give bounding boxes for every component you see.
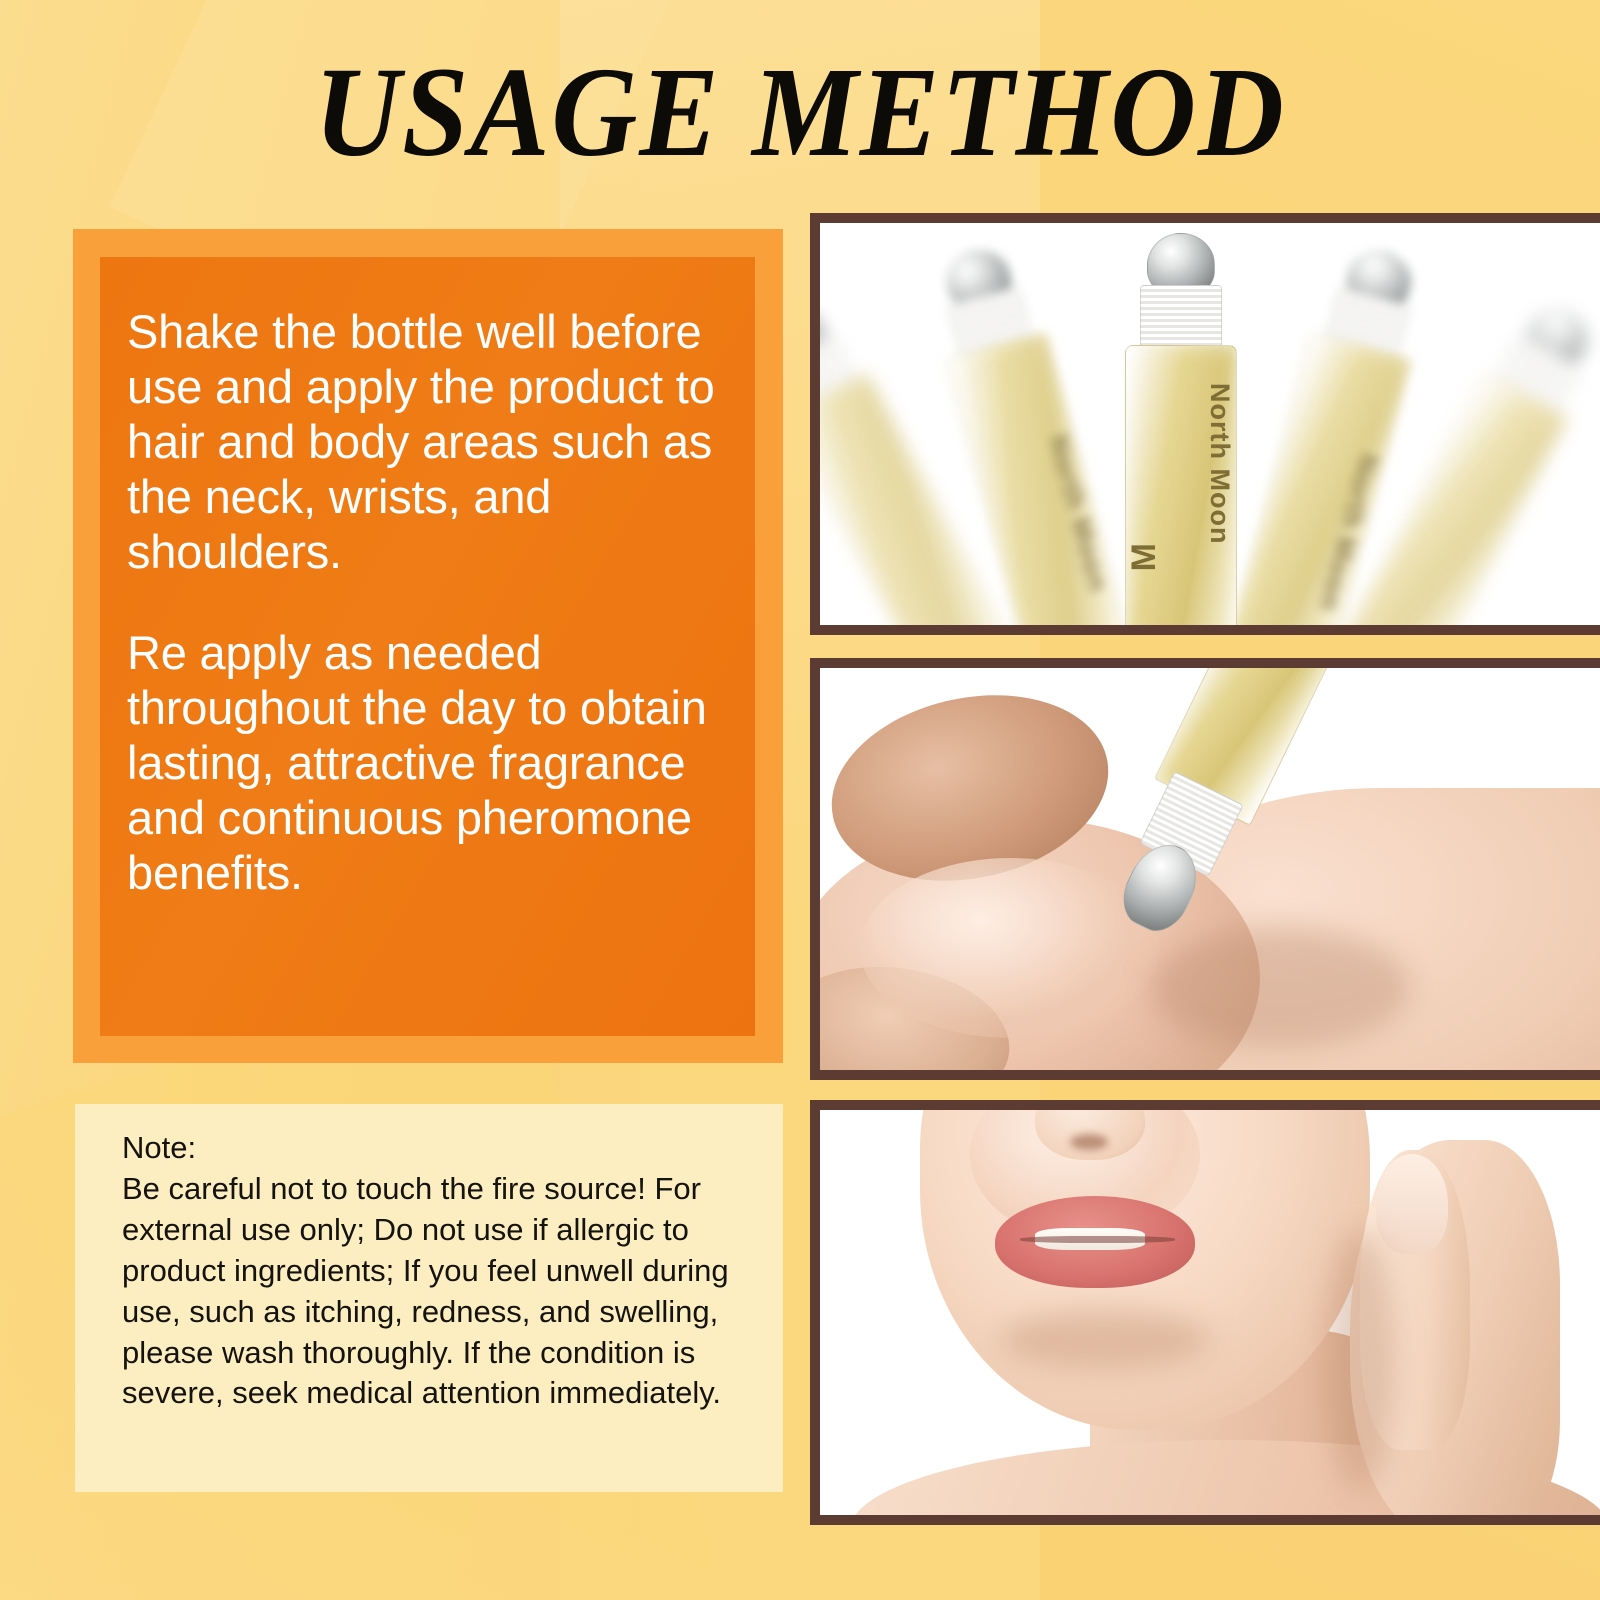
fingernail-shape	[1376, 1154, 1448, 1254]
brand-mark: M	[1125, 543, 1235, 571]
photo-roll-on-bottles: North Moon North Moon M North	[810, 213, 1600, 635]
photo-woman-neck	[810, 1100, 1600, 1525]
instruction-panel: Shake the bottle well before use and app…	[100, 257, 755, 1036]
page-title: USAGE METHOD	[56, 48, 1544, 176]
hand-shadow	[1325, 1230, 1395, 1490]
instruction-paragraph-1: Shake the bottle well before use and app…	[127, 305, 725, 580]
note-text: Note: Be careful not to touch the fire s…	[122, 1128, 761, 1414]
brand-label: North Moon	[1125, 383, 1235, 544]
bottle-primary: M North Moon	[1125, 233, 1235, 625]
photo-canvas	[820, 1110, 1600, 1515]
nostril-shadow	[1070, 1134, 1108, 1150]
photo-canvas	[820, 668, 1600, 1070]
instruction-paragraph-2: Re apply as needed throughout the day to…	[127, 626, 725, 901]
note-panel: Note: Be careful not to touch the fire s…	[75, 1104, 783, 1492]
lip-line	[1020, 1236, 1175, 1243]
photo-applying-to-hand	[810, 658, 1600, 1080]
photo-canvas: North Moon North Moon M North	[820, 223, 1600, 625]
chin-shadow	[1000, 1310, 1210, 1370]
poster-root: USAGE METHOD Shake the bottle well befor…	[0, 0, 1600, 1600]
